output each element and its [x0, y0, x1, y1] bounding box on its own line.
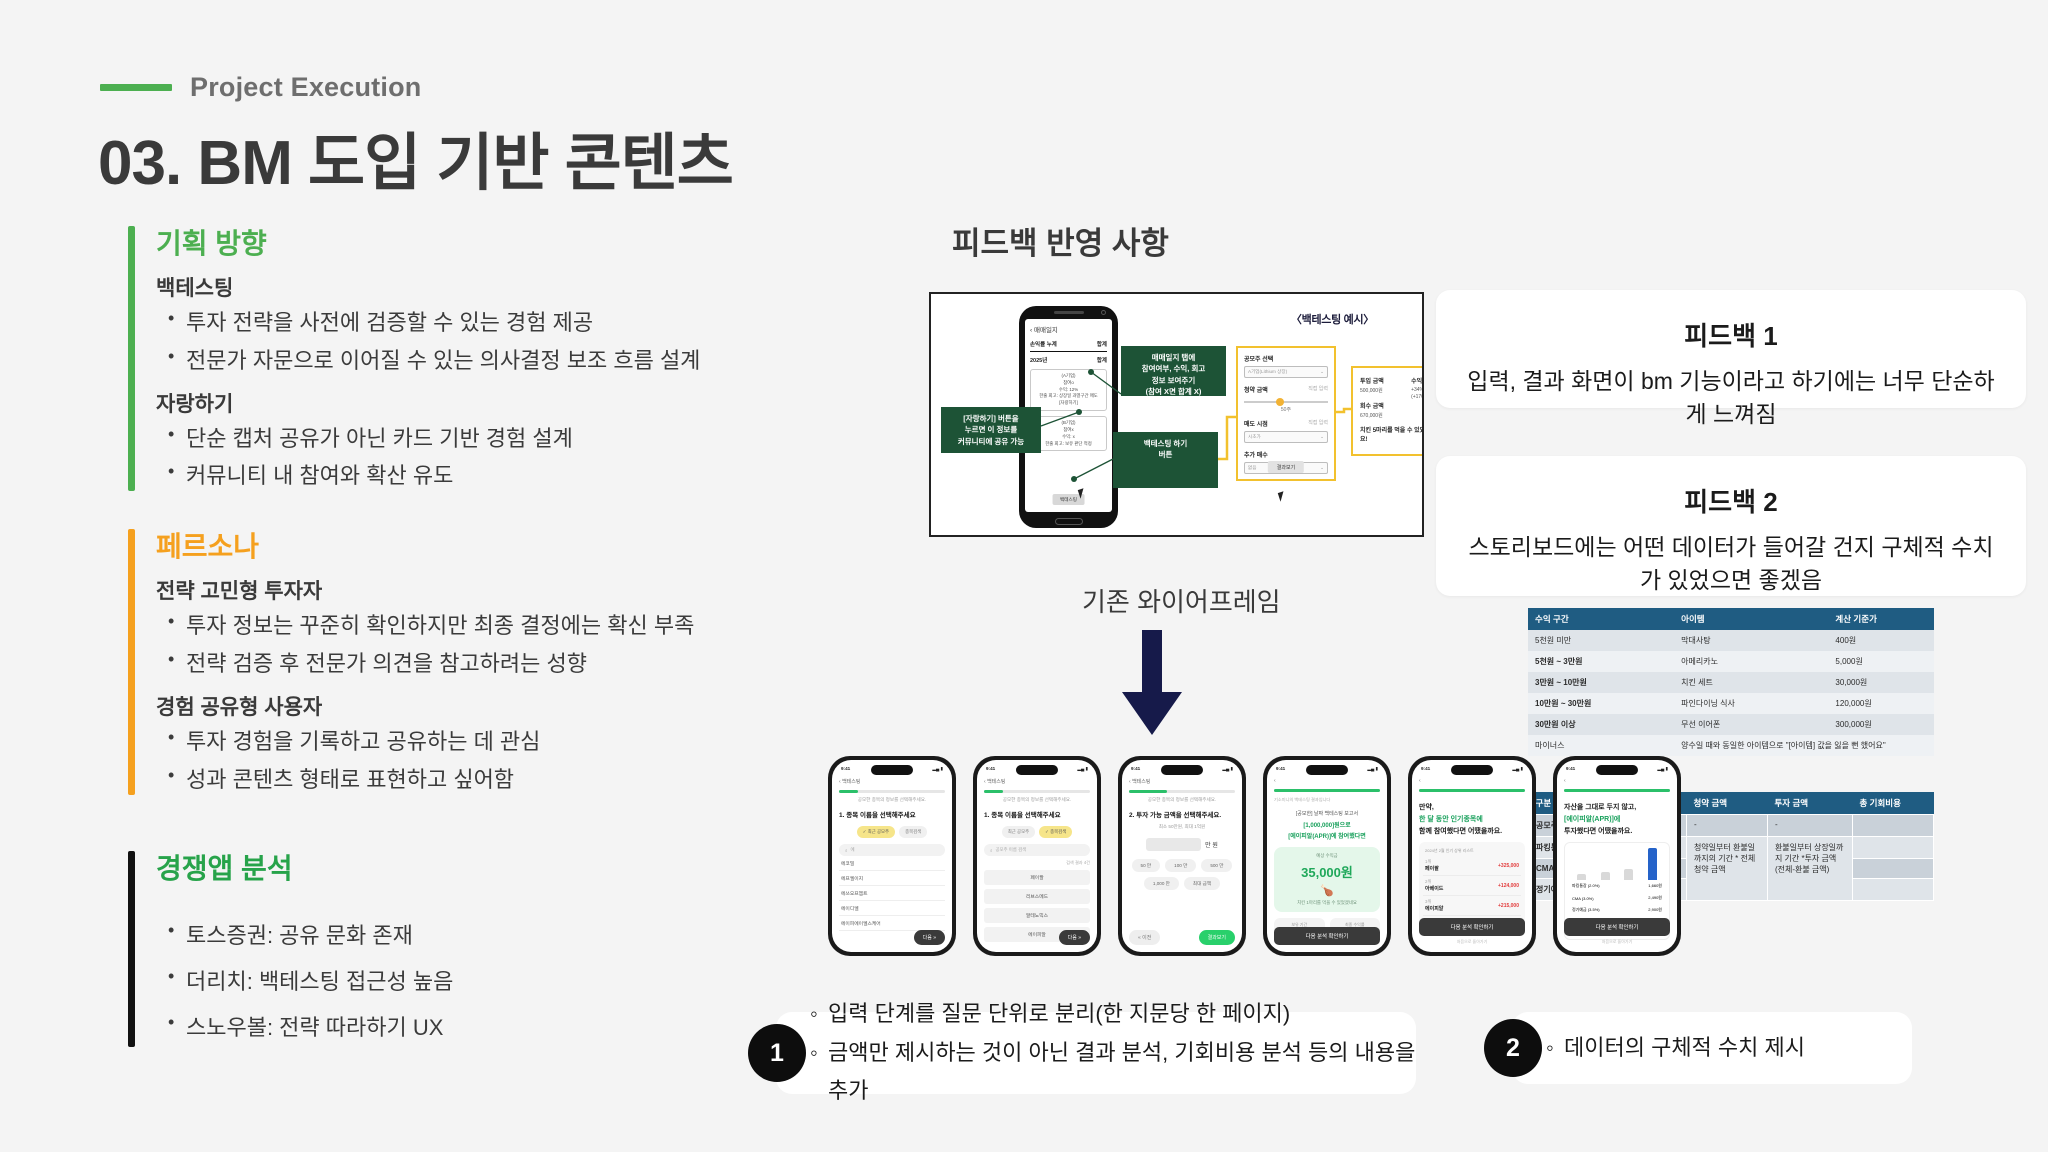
input-hint: 최소 50만원, 최대 1억원: [1129, 824, 1235, 830]
headline-line: 투자했다면 어땠을까요.: [1564, 826, 1670, 836]
prev-button[interactable]: « 이전: [1129, 930, 1160, 945]
status-icons-icon: ▂▄ ▮: [1367, 766, 1378, 772]
bar: [1577, 874, 1586, 880]
column-header: 아이템: [1674, 608, 1828, 630]
result-amount: 35,000원: [1278, 862, 1376, 881]
result-label: 투입 금액: [1360, 376, 1384, 385]
wireframe-result-panel: 투입 금액 500,000원 회수 금액 670,000원 수익률 +34% (…: [1351, 366, 1422, 456]
headline-line: [에이피알(APR)]에: [1564, 814, 1670, 824]
list-item: 금액만 제시하는 것이 아닌 결과 분석, 기회비용 분석 등의 내용을 추가: [828, 1034, 1416, 1111]
section-competitor-title: 경쟁앱 분석: [156, 847, 828, 887]
amount-pill[interactable]: 최대 금액: [1184, 877, 1220, 890]
secondary-link[interactable]: 처음으로 돌아가기: [1457, 939, 1488, 945]
column-header: 계산 기준가: [1828, 608, 1934, 630]
list-item[interactable]: 에프엘이지: [839, 871, 945, 886]
headline-line: 만약,: [1419, 802, 1525, 812]
subsection-title: 경험 공유형 사용자: [156, 691, 828, 721]
feedback-card: 피드백 1 입력, 결과 화면이 bm 기능이라고 하기에는 너무 단순하게 느…: [1436, 290, 2026, 408]
progress-bar: [1564, 789, 1670, 792]
wireframe-callout: [자랑하기] 버튼을 누르면 이 정보를 커뮤니티에 공유 가능: [941, 407, 1041, 453]
option-item[interactable]: 알테노믹스: [984, 908, 1090, 923]
secondary-link[interactable]: 처음으로 돌아가기: [1602, 939, 1633, 945]
progress-bar: [1419, 789, 1525, 792]
table-row: 3위에이피알+215,000: [1423, 896, 1521, 916]
eyebrow: Project Execution: [100, 72, 421, 103]
left-column: 기획 방향 백테스팅 투자 전략을 사전에 검증할 수 있는 경험 제공 전문가…: [128, 222, 828, 1057]
prompt-text: 공모한 종목의 정보를 선택해주세요.: [984, 797, 1090, 803]
status-time: 9:41: [1421, 766, 1430, 772]
dynamic-island-icon: [1016, 765, 1058, 775]
wireframe-entry-card: (B기업) 참여x 수익: x 한줄 회고: 보유 판단 적정: [1030, 416, 1107, 451]
form-label: 공모주 선택: [1244, 354, 1328, 363]
list-item: 투자 정보는 꾸준히 확인하지만 최종 결정에는 확신 부족: [186, 607, 828, 645]
prompt-text: 공모한 종목의 정보를 선택해주세요.: [839, 797, 945, 803]
status-icons-icon: ▂▄ ▮: [1657, 766, 1668, 772]
phone-speaker-icon: [1054, 311, 1084, 314]
amount-pill[interactable]: 50 만: [1132, 859, 1161, 872]
progress-bar: [1129, 790, 1235, 793]
dynamic-island-icon: [1451, 765, 1493, 775]
list-item[interactable]: 에이디엘: [839, 901, 945, 916]
form-label: 추가 매수: [1244, 450, 1328, 459]
question-text: 2. 투자 가능 금액을 선택해주세요.: [1129, 811, 1235, 820]
filter-chip[interactable]: ✓ 종목검색: [1039, 826, 1072, 838]
headline-line: 한 달 동안 인기종목에: [1419, 814, 1525, 824]
eyebrow-rule-icon: [100, 84, 172, 91]
table-row: CMA (3.0%)2,490원: [1570, 892, 1664, 904]
status-time: 9:41: [1131, 766, 1140, 772]
back-label: ‹: [1419, 778, 1525, 784]
chicken-icon: 🍗: [1278, 884, 1376, 897]
result-note: 치킨 1마리를 먹을 수 있었겠네요: [1278, 900, 1376, 906]
status-time: 9:41: [986, 766, 995, 772]
table-row: 1위페이팔+325,000: [1423, 856, 1521, 876]
eyebrow-label: Project Execution: [190, 72, 421, 103]
result-subtitle: 기소미니의 백테스팅 결과입니다: [1274, 797, 1380, 803]
form-label: 매도 시점: [1244, 419, 1268, 428]
dynamic-island-icon: [1306, 765, 1348, 775]
back-label: ‹ 백테스팅: [1129, 778, 1235, 785]
dynamic-island-icon: [871, 765, 913, 775]
status-icons-icon: ▂▄ ▮: [1512, 766, 1523, 772]
headline-line: 함께 참여했다면 어땠을까요.: [1419, 826, 1525, 836]
bar-group: [1570, 848, 1664, 880]
column-header: 총 기회비용: [1852, 792, 1933, 815]
slide-root: Project Execution 03. BM 도입 기반 콘텐츠 기획 방향…: [0, 0, 2048, 1152]
bullet-list: 토스증권: 공유 문화 존재 더리치: 백테스팅 접근성 높음 스노우볼: 전략…: [156, 913, 828, 1052]
cursor-pointer-icon: [1278, 491, 1286, 501]
result-highlight-card: 예상 수익금 35,000원 🍗 치킨 1마리를 먹을 수 있었겠네요: [1274, 847, 1380, 912]
phone-home-indicator-icon: [1055, 518, 1083, 525]
result-count: 검색 결과 4건: [984, 860, 1090, 866]
amount-unit: 만 원: [1205, 840, 1218, 849]
result-label: 예상 수익금: [1278, 853, 1376, 859]
chevron-down-icon: ⌄: [1320, 369, 1324, 375]
phone-mockup: 9:41▂▄ ▮ ‹ 백테스팅 공모한 종목의 정보를 선택해주세요. 1. 종…: [828, 756, 956, 956]
annotation-list: 입력 단계를 질문 단위로 분리(한 지문당 한 페이지) 금액만 제시하는 것…: [806, 995, 1416, 1111]
amount-pill[interactable]: 100 만: [1165, 859, 1196, 872]
bullet-list: 투자 정보는 꾸준히 확인하지만 최종 결정에는 확신 부족 전략 검증 후 전…: [156, 607, 828, 683]
wireframe-form-panel: 공모주 선택 A기업(Lithium 상장)⌄ 청약 금액 직접 입력 50주 …: [1236, 346, 1336, 481]
status-time: 9:41: [1276, 766, 1285, 772]
table-row: 10만원 ~ 30만원파인다이닝 식사120,000원: [1528, 693, 1934, 714]
annotation-badge: 1: [748, 1024, 806, 1082]
progress-bar: [839, 790, 945, 793]
page-title: 03. BM 도입 기반 콘텐츠: [98, 112, 733, 202]
slider-value: 50주: [1244, 406, 1328, 413]
report-line: [1,000,000]원으로: [1274, 820, 1380, 829]
section-persona-title: 페르소나: [156, 525, 828, 565]
search-input[interactable]: ⌕공모주 이름 검색: [984, 844, 1090, 856]
next-button[interactable]: 다음 »: [914, 930, 945, 945]
status-time: 9:41: [841, 766, 850, 772]
list-item: 전략 검증 후 전문가 의견을 참고하려는 성향: [186, 645, 828, 683]
question-text: 1. 종목 이름을 선택해주세요: [839, 811, 945, 820]
subsection-title: 백테스팅: [156, 272, 828, 302]
list-item[interactable]: 에쓰오프엠트: [839, 886, 945, 901]
bar: [1601, 872, 1610, 880]
phone-camera-icon: [1101, 310, 1106, 315]
cta-button[interactable]: 다음 분석 확인하기: [1274, 927, 1380, 945]
phone-mockup-strip: 9:41▂▄ ▮ ‹ 백테스팅 공모한 종목의 정보를 선택해주세요. 1. 종…: [828, 756, 1681, 956]
back-label: ‹ 백테스팅: [839, 778, 945, 785]
phone-mockup: 9:41▂▄ ▮ ‹ 자산을 그대로 두지 않고, [에이피알(APR)]에 투…: [1553, 756, 1681, 956]
column-header: 청약 금액: [1686, 792, 1767, 815]
table-row: 5천원 ~ 3만원아메리카노5,000원: [1528, 651, 1934, 672]
result-note: 치킨 5마리를 먹을 수 있었겠네요!: [1353, 427, 1422, 445]
section-competitor: 경쟁앱 분석 토스증권: 공유 문화 존재 더리치: 백테스팅 접근성 높음 스…: [128, 847, 828, 1052]
wireframe-example-title: 〈백테스팅 예시〉: [1291, 311, 1374, 327]
column-header: 투자 금액: [1767, 792, 1852, 815]
cta-button[interactable]: 다음 분석 확인하기: [1419, 918, 1525, 936]
wireframe-entry-card: (A기업) 참여o 수익: 12% 한줄 회고: 상장일 과열구간 매도 [자랑…: [1030, 369, 1107, 411]
amount-pill[interactable]: 1,000 만: [1144, 877, 1179, 890]
annotation-card: 1 입력 단계를 질문 단위로 분리(한 지문당 한 페이지) 금액만 제시하는…: [776, 1012, 1416, 1094]
amount-slider[interactable]: [1244, 398, 1328, 406]
form-submit-button[interactable]: 결과보기: [1268, 461, 1304, 473]
list-item: 스노우볼: 전략 따라하기 UX: [186, 1005, 828, 1051]
back-label: ‹: [1564, 778, 1670, 784]
table-row: 30만원 이상무선 이어폰300,000원: [1528, 714, 1934, 735]
annotation-badge: 2: [1484, 1019, 1542, 1077]
status-time: 9:41: [1566, 766, 1575, 772]
feedback-section-heading: 피드백 반영 사항: [952, 218, 1169, 263]
phone-mockup: 9:41▂▄ ▮ ‹ 만약, 한 달 동안 인기종목에 함께 참여했다면 어땠을…: [1408, 756, 1536, 956]
annotation-card: 2 데이터의 구체적 수치 제시: [1512, 1012, 1912, 1084]
option-item[interactable]: 페이팔: [984, 870, 1090, 885]
status-icons-icon: ▂▄ ▮: [1077, 766, 1088, 772]
form-hint: 직접 입력: [1308, 419, 1328, 428]
feedback-card-title: 피드백 2: [1466, 482, 1996, 519]
search-input[interactable]: ⌕예: [839, 844, 945, 856]
result-label: 수익률: [1411, 376, 1422, 385]
wireframe-callout: 백테스팅 하기 버튼: [1113, 432, 1218, 488]
filter-chip[interactable]: 최근 공모주: [1002, 826, 1035, 838]
report-line: [공모한] 날짜 백테스팅 보고서: [1274, 810, 1380, 817]
list-item[interactable]: 에코밀: [839, 856, 945, 871]
back-label: ‹ 백테스팅: [984, 778, 1090, 785]
feedback-card-title: 피드백 1: [1466, 316, 1996, 353]
section-persona: 페르소나 전략 고민형 투자자 투자 정보는 꾸준히 확인하지만 최종 결정에는…: [128, 525, 828, 798]
feedback-card-body: 입력, 결과 화면이 bm 기능이라고 하기에는 너무 단순하게 느껴짐: [1466, 365, 1996, 432]
phone-mockup: 9:41▂▄ ▮ ‹ 백테스팅 공모한 종목의 정보를 선택해주세요. 1. 종…: [973, 756, 1101, 956]
column-header: 수익 구간: [1528, 608, 1674, 630]
annotation-list: 데이터의 구체적 수치 제시: [1542, 1029, 1805, 1068]
table-row: 파킹통장 (2.0%)1,660원: [1570, 880, 1664, 892]
wireframe-caption: 기존 와이어프레임: [1082, 582, 1281, 619]
bullet-list: 투자 전략을 사전에 검증할 수 있는 경험 제공 전문가 자문으로 이어질 수…: [156, 304, 828, 380]
list-item: 투자 경험을 기록하고 공유하는 데 관심: [186, 723, 828, 761]
filter-chip[interactable]: 종목검색: [899, 826, 927, 838]
feedback-card-body: 스토리보드에는 어떤 데이터가 들어갈 건지 구체적 수치가 있었으면 좋겠음: [1466, 531, 1996, 598]
list-item: 데이터의 구체적 수치 제시: [1564, 1029, 1805, 1068]
status-icons-icon: ▂▄ ▮: [1222, 766, 1233, 772]
bullet-list: 투자 경험을 기록하고 공유하는 데 관심 성과 콘텐츠 형태로 표현하고 싶어…: [156, 723, 828, 799]
status-icons-icon: ▂▄ ▮: [932, 766, 943, 772]
search-icon: ⌕: [845, 848, 847, 853]
feedback-card: 피드백 2 스토리보드에는 어떤 데이터가 들어갈 건지 구체적 수치가 있었으…: [1436, 456, 2026, 596]
table-row: 5천원 미만막대사탕400원: [1528, 630, 1934, 651]
progress-bar: [984, 790, 1090, 793]
amount-pill[interactable]: 500 만: [1201, 859, 1232, 872]
next-button[interactable]: 다음 »: [1059, 930, 1090, 945]
section-planning: 기획 방향 백테스팅 투자 전략을 사전에 검증할 수 있는 경험 제공 전문가…: [128, 222, 828, 495]
subsection-title: 전략 고민형 투자자: [156, 575, 828, 605]
bar: [1624, 869, 1633, 880]
subsection-title: 자랑하기: [156, 388, 828, 418]
wireframe-callout: 매매일지 탭에 참여여부, 수익, 회고 정보 보여주기 (참여 X면 합계 X…: [1121, 346, 1226, 396]
list-item: 커뮤니티 내 참여와 확산 유도: [186, 457, 828, 495]
table-row: 2위아베이드+124,000: [1423, 876, 1521, 896]
form-hint: 직접 입력: [1308, 385, 1328, 394]
result-label: 회수 금액: [1360, 401, 1384, 410]
prompt-text: 공모한 종목의 정보를 선택해주세요.: [1129, 797, 1235, 803]
result-value-secondary: (+170,000원): [1411, 393, 1422, 400]
option-item[interactable]: 리브스메드: [984, 889, 1090, 904]
wireframe-image: 〈백테스팅 예시〉 ‹ 매매일지 손익률 누계 합계 2025년 합계 (A기업…: [929, 292, 1424, 537]
submit-button[interactable]: 결과보기: [1199, 930, 1235, 945]
search-icon: ⌕: [990, 848, 992, 853]
table-row: 정기예금 (3.5%)2,900원: [1570, 904, 1664, 916]
result-value: 670,000원: [1360, 412, 1384, 419]
table-row: 3만원 ~ 10만원치킨 세트30,000원: [1528, 672, 1934, 693]
bullet-list: 단순 캡처 공유가 아닌 카드 기반 경험 설계 커뮤니티 내 참여와 확산 유…: [156, 420, 828, 496]
list-item: 단순 캡처 공유가 아닌 카드 기반 경험 설계: [186, 420, 828, 458]
list-item: 토스증권: 공유 문화 존재: [186, 913, 828, 959]
question-text: 1. 종목 이름을 선택해주세요: [984, 811, 1090, 820]
wireframe-year-row: 2025년 합계: [1030, 356, 1107, 364]
table-header-row: 수익 구간 아이템 계산 기준가: [1528, 608, 1934, 630]
ranking-title: 2024년 2월 인기 상위 리스트: [1423, 846, 1521, 856]
chevron-down-icon: ⌄: [1320, 434, 1324, 440]
list-item: 입력 단계를 질문 단위로 분리(한 지문당 한 페이지): [828, 995, 1416, 1034]
cta-button[interactable]: 다음 분석 확인하기: [1564, 918, 1670, 936]
wireframe-back-label: ‹ 매매일지: [1030, 324, 1107, 334]
reward-item-table: 수익 구간 아이템 계산 기준가 5천원 미만막대사탕400원 5천원 ~ 3만…: [1528, 608, 1934, 756]
wireframe-summary-row: 손익률 누계 합계: [1030, 340, 1107, 352]
bar: [1648, 848, 1657, 880]
result-value: 500,000원: [1360, 387, 1384, 394]
section-planning-title: 기획 방향: [156, 222, 828, 262]
chevron-down-icon: ⌄: [1320, 465, 1324, 471]
list-item[interactable]: 에이피에이엘스케어: [839, 916, 945, 931]
list-item: 전문가 자문으로 이어질 수 있는 의사결정 보조 흐름 설계: [186, 342, 828, 380]
progress-bar: [1274, 789, 1380, 792]
down-arrow-icon: [1112, 630, 1192, 740]
list-item: 더리치: 백테스팅 접근성 높음: [186, 959, 828, 1005]
dynamic-island-icon: [1161, 765, 1203, 775]
back-label: ‹: [1274, 778, 1380, 784]
list-item: 성과 콘텐츠 형태로 표현하고 싶어함: [186, 761, 828, 799]
amount-input[interactable]: [1146, 838, 1201, 851]
phone-mockup: 9:41▂▄ ▮ ‹ 기소미니의 백테스팅 결과입니다 [공모한] 날짜 백테스…: [1263, 756, 1391, 956]
form-select[interactable]: 시초가⌄: [1244, 431, 1328, 443]
table-row: 마이너스양수일 때와 동일한 아이템으로 "[아이템] 값을 잃을 뻔 했어요": [1528, 735, 1934, 756]
list-item: 투자 전략을 사전에 검증할 수 있는 경험 제공: [186, 304, 828, 342]
phone-mockup: 9:41▂▄ ▮ ‹ 백테스팅 공모한 종목의 정보를 선택해주세요. 2. 투…: [1118, 756, 1246, 956]
dynamic-island-icon: [1596, 765, 1638, 775]
form-label: 청약 금액: [1244, 385, 1268, 394]
filter-chip[interactable]: ✓ 최근 공모주: [857, 826, 895, 838]
headline-line: 자산을 그대로 두지 않고,: [1564, 802, 1670, 812]
report-line: [에이피알(APR)]에 참여했다면: [1274, 831, 1380, 840]
form-select[interactable]: A기업(Lithium 상장)⌄: [1244, 366, 1328, 378]
